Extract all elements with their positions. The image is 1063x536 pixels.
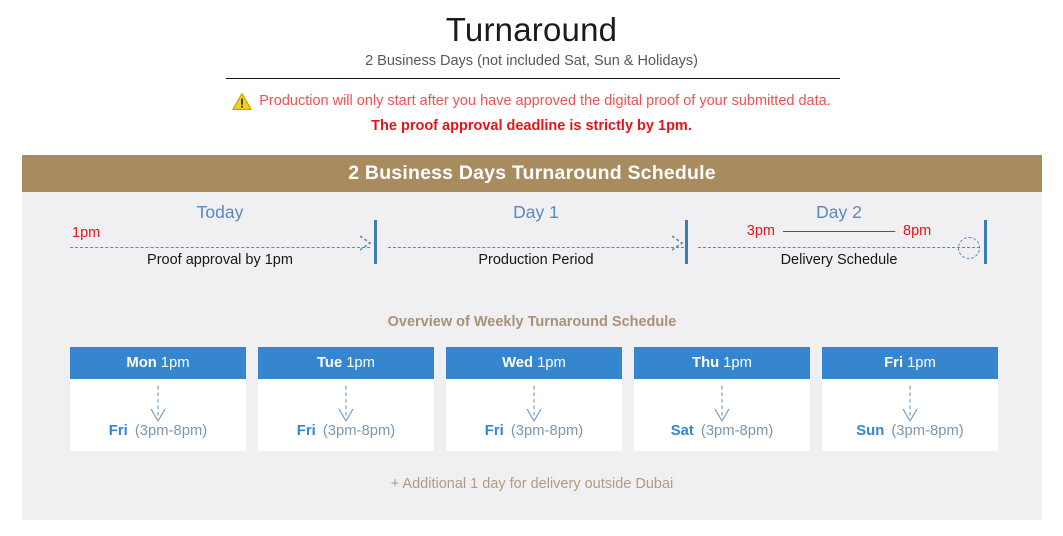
schedule-card-tue[interactable]: Tue 1pm Fri (3pm-8pm) [258, 347, 434, 451]
card-header-tue: Tue 1pm [258, 347, 434, 379]
warning-text: Production will only start after you hav… [259, 92, 830, 111]
timeline-dashed-line-day2 [698, 247, 980, 248]
card-body-fri: Sun (3pm-8pm) [822, 379, 998, 451]
timeline-start-time-day2: 3pm [747, 222, 775, 240]
turnaround-infographic: Turnaround 2 Business Days (not included… [0, 0, 1063, 536]
timeline-divider-1 [374, 220, 377, 264]
schedule-panel: Today 1pm Proof approval by 1pm Day 1 Pr… [22, 192, 1042, 520]
timeline-heading-today: Today [70, 201, 370, 223]
timeline-heading-day1: Day 1 [388, 201, 684, 223]
schedule-banner: 2 Business Days Turnaround Schedule [22, 155, 1042, 192]
card-delivery-mon: Fri (3pm-8pm) [70, 421, 246, 441]
card-body-wed: Fri (3pm-8pm) [446, 379, 622, 451]
timeline-endpoint-circle-icon [958, 237, 980, 259]
card-header-fri: Fri 1pm [822, 347, 998, 379]
warning-deadline-text: The proof approval deadline is strictly … [0, 116, 1063, 136]
card-delivery-fri: Sun (3pm-8pm) [822, 421, 998, 441]
card-header-thu: Thu 1pm [634, 347, 810, 379]
page-title: Turnaround [0, 10, 1063, 50]
timeline-delivery-window: 3pm 8pm [698, 222, 980, 240]
timeline-start-time-today: 1pm [72, 224, 100, 242]
timeline-caption-day2: Delivery Schedule [698, 250, 980, 270]
schedule-card-fri[interactable]: Fri 1pm Sun (3pm-8pm) [822, 347, 998, 451]
card-day-wed: Wed [502, 354, 533, 372]
card-body-mon: Fri (3pm-8pm) [70, 379, 246, 451]
schedule-card-thu[interactable]: Thu 1pm Sat (3pm-8pm) [634, 347, 810, 451]
card-delivery-window-wed: (3pm-8pm) [511, 423, 583, 439]
weekly-schedule-cards: Mon 1pm Fri (3pm-8pm) Tue [70, 347, 998, 451]
card-delivery-wed: Fri (3pm-8pm) [446, 421, 622, 441]
schedule-card-mon[interactable]: Mon 1pm Fri (3pm-8pm) [70, 347, 246, 451]
timeline-divider-3 [984, 220, 987, 264]
footnote-text: + Additional 1 day for delivery outside … [22, 474, 1042, 494]
card-header-wed: Wed 1pm [446, 347, 622, 379]
timeline-segment-day2: Day 2 3pm 8pm Delivery Schedule [698, 192, 980, 287]
warning-triangle-icon [232, 92, 252, 111]
title-divider [226, 78, 840, 79]
card-cutoff-time-tue: 1pm [346, 354, 375, 372]
timeline-window-connector [783, 231, 895, 232]
card-day-tue: Tue [317, 354, 342, 372]
schedule-card-wed[interactable]: Wed 1pm Fri (3pm-8pm) [446, 347, 622, 451]
card-delivery-day-tue: Fri [297, 423, 316, 439]
card-body-tue: Fri (3pm-8pm) [258, 379, 434, 451]
card-delivery-day-thu: Sat [671, 423, 694, 439]
card-cutoff-time-fri: 1pm [907, 354, 936, 372]
card-delivery-window-thu: (3pm-8pm) [701, 423, 773, 439]
arrow-down-icon-thu [713, 385, 731, 423]
arrow-down-icon-fri [901, 385, 919, 423]
card-cutoff-time-thu: 1pm [723, 354, 752, 372]
card-delivery-window-fri: (3pm-8pm) [891, 423, 963, 439]
timeline-dashed-line-day1 [388, 247, 684, 248]
card-day-fri: Fri [884, 354, 903, 372]
timeline-dashed-line-today [70, 247, 370, 248]
card-cutoff-time-mon: 1pm [161, 354, 190, 372]
card-delivery-day-fri: Sun [856, 423, 884, 439]
timeline-caption-today: Proof approval by 1pm [70, 250, 370, 270]
card-body-thu: Sat (3pm-8pm) [634, 379, 810, 451]
page-subtitle: 2 Business Days (not included Sat, Sun &… [0, 52, 1063, 70]
overview-label: Overview of Weekly Turnaround Schedule [22, 312, 1042, 332]
card-cutoff-time-wed: 1pm [537, 354, 566, 372]
card-day-thu: Thu [692, 354, 719, 372]
card-header-mon: Mon 1pm [70, 347, 246, 379]
warning-row: Production will only start after you hav… [0, 92, 1063, 111]
timeline-segment-today: Today 1pm Proof approval by 1pm [70, 192, 370, 287]
timeline-caption-day1: Production Period [388, 250, 684, 270]
arrow-down-icon-tue [337, 385, 355, 423]
timeline-heading-day2: Day 2 [698, 201, 980, 223]
card-delivery-window-tue: (3pm-8pm) [323, 423, 395, 439]
card-delivery-window-mon: (3pm-8pm) [135, 423, 207, 439]
timeline-segment-day1: Day 1 Production Period [388, 192, 684, 287]
arrow-down-icon-wed [525, 385, 543, 423]
card-delivery-thu: Sat (3pm-8pm) [634, 421, 810, 441]
timeline-divider-2 [685, 220, 688, 264]
timeline-end-time-day2: 8pm [903, 222, 931, 240]
turnaround-timeline: Today 1pm Proof approval by 1pm Day 1 Pr… [22, 192, 1042, 287]
card-delivery-tue: Fri (3pm-8pm) [258, 421, 434, 441]
card-delivery-day-wed: Fri [485, 423, 504, 439]
card-delivery-day-mon: Fri [109, 423, 128, 439]
arrow-down-icon-mon [149, 385, 167, 423]
card-day-mon: Mon [126, 354, 156, 372]
